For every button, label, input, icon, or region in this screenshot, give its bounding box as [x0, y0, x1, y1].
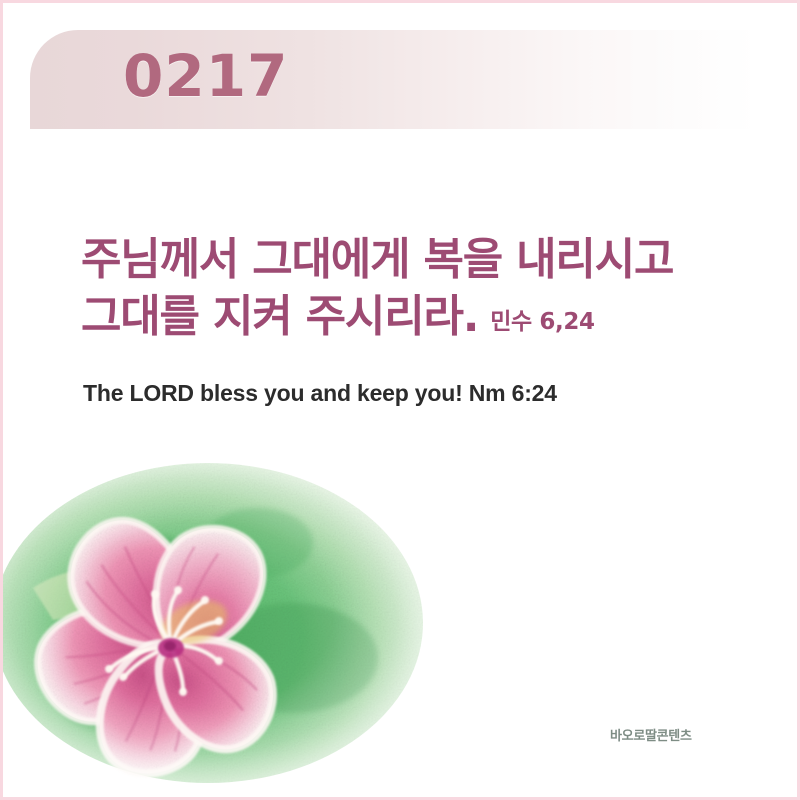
header-banner: 0217 — [30, 30, 758, 129]
verse-korean-line-2-row: 그대를 지켜 주시리라. 민수 6,24 — [81, 288, 771, 345]
verse-korean-line-2: 그대를 지켜 주시리라. — [81, 288, 478, 345]
flower-illustration-svg — [0, 428, 493, 788]
day-number: 0217 — [123, 47, 288, 105]
flower-illustration — [0, 428, 493, 788]
verse-english: The LORD bless you and keep you! Nm 6:24 — [83, 380, 557, 407]
verse-korean-line-1: 주님께서 그대에게 복을 내리시고 — [81, 231, 771, 288]
verse-block: 주님께서 그대에게 복을 내리시고 그대를 지켜 주시리라. 민수 6,24 — [81, 231, 771, 345]
scripture-card: 0217 주님께서 그대에게 복을 내리시고 그대를 지켜 주시리라. 민수 6… — [0, 0, 800, 800]
verse-citation-korean: 민수 6,24 — [490, 308, 594, 338]
publisher-watermark: 바오로딸콘텐츠 — [610, 725, 692, 744]
